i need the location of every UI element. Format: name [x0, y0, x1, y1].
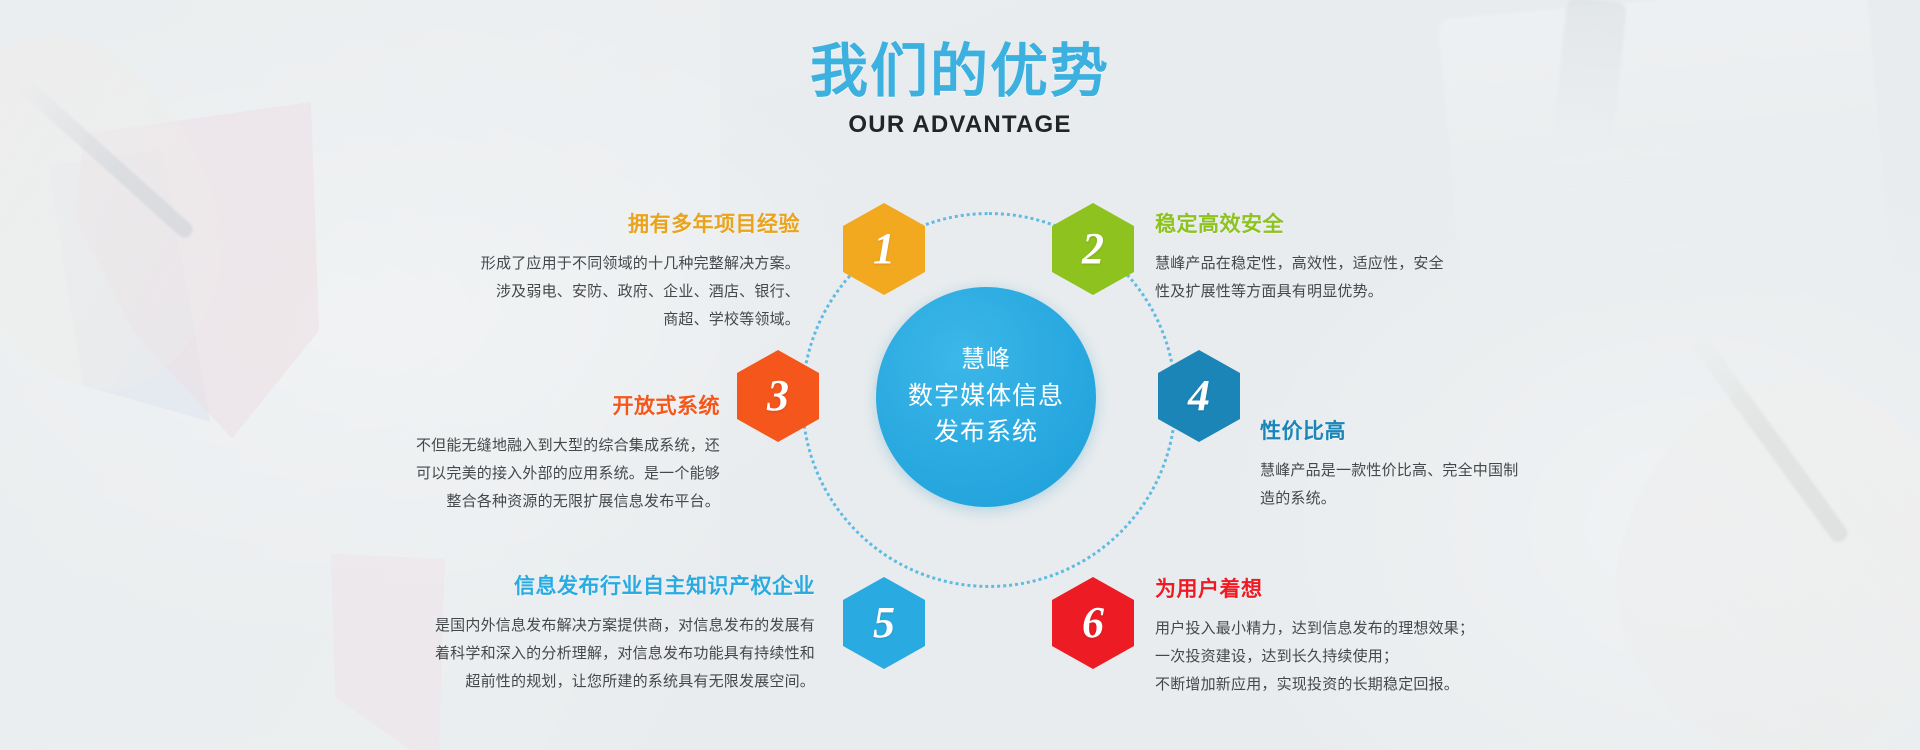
- feature-open-system: 开放式系统 不但能无缝地融入到大型的综合集成系统，还 可以完美的接入外部的应用系…: [340, 390, 720, 516]
- hex-badge-6-number: 6: [1082, 597, 1104, 648]
- feature-2-body: 慧峰产品在稳定性，高效性，适应性，安全 性及扩展性等方面具有明显优势。: [1155, 250, 1525, 306]
- feature-1-line-3: 商超、学校等领域。: [663, 311, 800, 328]
- feature-2-line-2: 性及扩展性等方面具有明显优势。: [1155, 283, 1383, 300]
- feature-1-line-1: 形成了应用于不同领域的十几种完整解决方案。: [481, 255, 800, 272]
- feature-1-line-2: 涉及弱电、安防、政府、企业、酒店、银行、: [496, 283, 800, 300]
- hex-badge-5-number: 5: [873, 597, 895, 648]
- feature-6-heading: 为用户着想: [1155, 573, 1575, 603]
- feature-1-heading: 拥有多年项目经验: [430, 208, 800, 238]
- feature-5-body: 是国内外信息发布解决方案提供商，对信息发布的发展有 着科学和深入的分析理解，对信…: [325, 612, 815, 696]
- feature-stable-efficient-secure: 稳定高效安全 慧峰产品在稳定性，高效性，适应性，安全 性及扩展性等方面具有明显优…: [1155, 208, 1525, 306]
- feature-independent-ip-enterprise: 信息发布行业自主知识产权企业 是国内外信息发布解决方案提供商，对信息发布的发展有…: [325, 570, 815, 696]
- hex-badge-6[interactable]: 6: [1052, 577, 1134, 669]
- feature-1-body: 形成了应用于不同领域的十几种完整解决方案。 涉及弱电、安防、政府、企业、酒店、银…: [430, 250, 800, 334]
- feature-4-line-2: 造的系统。: [1260, 490, 1336, 507]
- page-title: 我们的优势: [0, 42, 1920, 103]
- page-subtitle: OUR ADVANTAGE: [0, 111, 1920, 139]
- feature-5-line-3: 超前性的规划，让您所建的系统具有无限发展空间。: [465, 673, 815, 690]
- feature-5-heading: 信息发布行业自主知识产权企业: [325, 570, 815, 600]
- feature-multi-year-experience: 拥有多年项目经验 形成了应用于不同领域的十几种完整解决方案。 涉及弱电、安防、政…: [430, 208, 800, 334]
- feature-2-heading: 稳定高效安全: [1155, 208, 1525, 238]
- advantage-banner: 我们的优势 OUR ADVANTAGE 慧峰 数字媒体信息 发布系统 1 2 3…: [0, 0, 1920, 750]
- feature-4-line-1: 慧峰产品是一款性价比高、完全中国制: [1260, 462, 1518, 479]
- hex-badge-4-number: 4: [1188, 370, 1210, 421]
- feature-6-line-3: 不断增加新应用，实现投资的长期稳定回报。: [1155, 676, 1459, 693]
- hex-badge-5[interactable]: 5: [843, 577, 925, 669]
- center-line-2: 数字媒体信息: [908, 378, 1064, 414]
- feature-6-line-1: 用户投入最小精力，达到信息发布的理想效果；: [1155, 620, 1474, 637]
- feature-3-line-3: 整合各种资源的无限扩展信息发布平台。: [446, 493, 720, 510]
- feature-user-centric: 为用户着想 用户投入最小精力，达到信息发布的理想效果； 一次投资建设，达到长久持…: [1155, 573, 1575, 699]
- hex-badge-1-number: 1: [873, 223, 895, 274]
- header: 我们的优势 OUR ADVANTAGE: [0, 42, 1920, 139]
- hex-badge-2-number: 2: [1082, 223, 1104, 274]
- feature-2-line-1: 慧峰产品在稳定性，高效性，适应性，安全: [1155, 255, 1444, 272]
- feature-4-heading: 性价比高: [1260, 415, 1600, 445]
- feature-high-cost-performance: 性价比高 慧峰产品是一款性价比高、完全中国制 造的系统。: [1260, 415, 1600, 513]
- hex-badge-3-number: 3: [767, 370, 789, 421]
- center-line-3: 发布系统: [934, 414, 1038, 450]
- feature-4-body: 慧峰产品是一款性价比高、完全中国制 造的系统。: [1260, 457, 1600, 513]
- feature-3-body: 不但能无缝地融入到大型的综合集成系统，还 可以完美的接入外部的应用系统。是一个能…: [340, 432, 720, 516]
- feature-3-line-2: 可以完美的接入外部的应用系统。是一个能够: [416, 465, 720, 482]
- center-line-1: 慧峰: [961, 343, 1011, 378]
- feature-3-heading: 开放式系统: [340, 390, 720, 420]
- feature-3-line-1: 不但能无缝地融入到大型的综合集成系统，还: [416, 437, 720, 454]
- feature-5-line-1: 是国内外信息发布解决方案提供商，对信息发布的发展有: [435, 617, 815, 634]
- feature-6-line-2: 一次投资建设，达到长久持续使用；: [1155, 648, 1398, 665]
- center-circle: 慧峰 数字媒体信息 发布系统: [876, 287, 1096, 507]
- feature-5-line-2: 着科学和深入的分析理解，对信息发布功能具有持续性和: [435, 645, 815, 662]
- feature-6-body: 用户投入最小精力，达到信息发布的理想效果； 一次投资建设，达到长久持续使用； 不…: [1155, 615, 1575, 699]
